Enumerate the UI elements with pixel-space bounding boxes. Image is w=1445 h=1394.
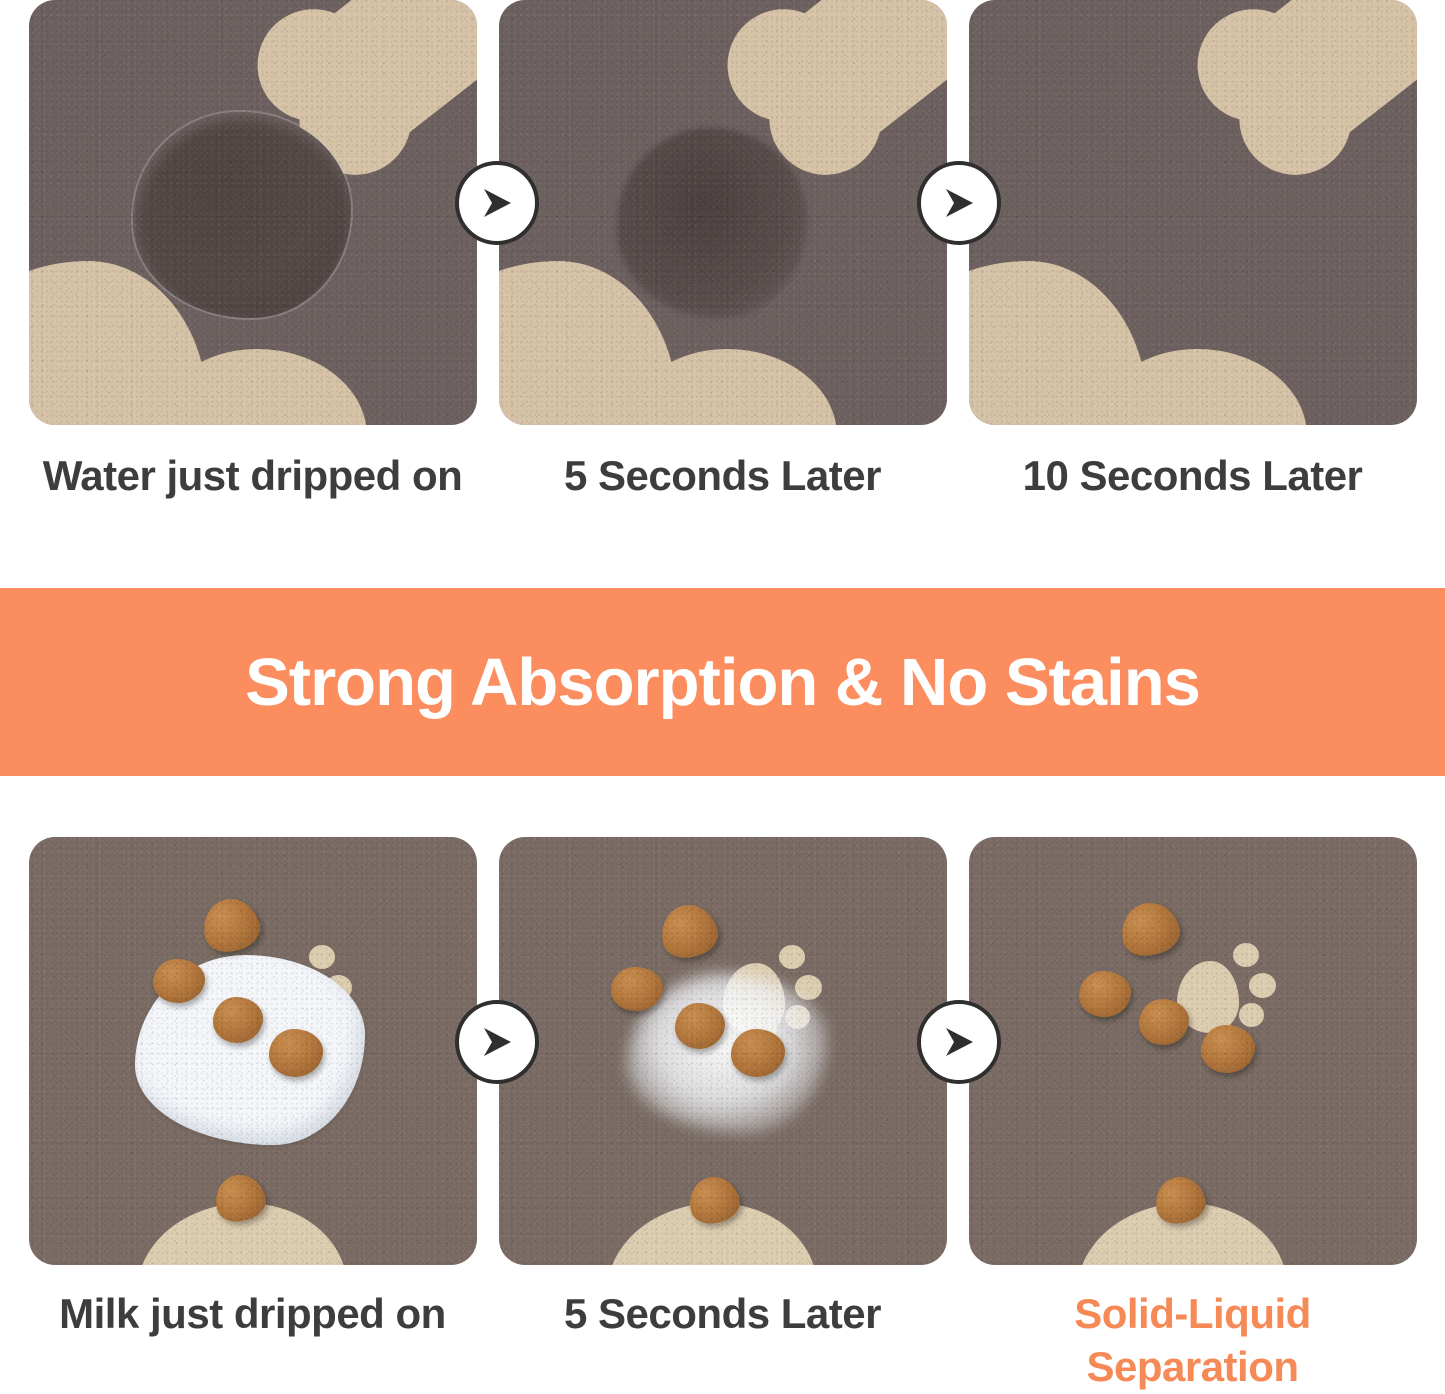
bone-pattern-icon <box>1215 0 1416 170</box>
kibble-piece <box>1139 999 1189 1045</box>
tile-wrap-milk-1 <box>29 837 477 1265</box>
chevron-right-icon <box>455 161 539 245</box>
milk-sequence-captions: Milk just dripped on 5 Seconds Later Sol… <box>0 1288 1445 1393</box>
caption-water-just-dripped: Water just dripped on <box>29 450 477 503</box>
tile-wrap-water-2 <box>499 0 947 425</box>
photo-solid-liquid-separation <box>969 837 1417 1265</box>
chevron-right-icon <box>917 1000 1001 1084</box>
infographic-page: Water just dripped on 5 Seconds Later 10… <box>0 0 1445 1394</box>
headline-banner: Strong Absorption & No Stains <box>0 588 1445 776</box>
water-sequence-images <box>0 0 1445 425</box>
water-sequence-captions: Water just dripped on 5 Seconds Later 10… <box>0 450 1445 503</box>
tile-wrap-water-3 <box>969 0 1417 425</box>
headline-text: Strong Absorption & No Stains <box>245 644 1200 721</box>
caption-solid-liquid-separation: Solid-Liquid Separation <box>969 1288 1417 1393</box>
damp-patch <box>617 128 807 318</box>
caption-milk-5-seconds: 5 Seconds Later <box>499 1288 947 1393</box>
tile-wrap-milk-2 <box>499 837 947 1265</box>
photo-water-just-dripped <box>29 0 477 425</box>
photo-water-10-seconds <box>969 0 1417 425</box>
kibble-piece <box>655 899 722 963</box>
photo-water-5-seconds <box>499 0 947 425</box>
photo-milk-just-dripped <box>29 837 477 1265</box>
kibble-piece <box>1115 897 1184 961</box>
bone-pattern-icon <box>745 0 946 170</box>
kibble-piece <box>197 893 264 957</box>
caption-milk-just-dripped: Milk just dripped on <box>29 1288 477 1393</box>
kibble-piece <box>1079 971 1131 1017</box>
tile-wrap-milk-3 <box>969 837 1417 1265</box>
kibble-piece <box>1201 1025 1255 1073</box>
chevron-right-icon <box>455 1000 539 1084</box>
caption-water-5-seconds: 5 Seconds Later <box>499 450 947 503</box>
caption-water-10-seconds: 10 Seconds Later <box>969 450 1417 503</box>
tile-wrap-water-1 <box>29 0 477 425</box>
milk-sequence-images <box>0 837 1445 1265</box>
photo-milk-5-seconds <box>499 837 947 1265</box>
water-puddle <box>133 112 351 318</box>
chevron-right-icon <box>917 161 1001 245</box>
